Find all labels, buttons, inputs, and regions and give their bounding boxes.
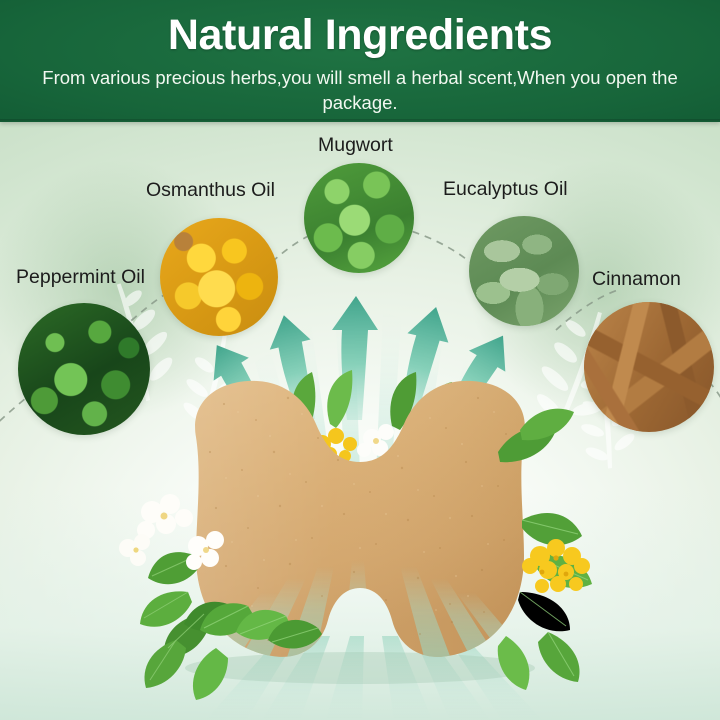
ingredient-label-mugwort: Mugwort: [318, 134, 393, 156]
mugwort-leaves-icon[interactable]: [304, 163, 414, 273]
page-subtitle: From various precious herbs,you will sme…: [36, 65, 684, 115]
ingredient-label-eucalyptus-oil: Eucalyptus Oil: [443, 178, 568, 200]
peppermint-leaves-icon[interactable]: [18, 303, 150, 435]
natural-ingredients-poster: Peppermint Oil Osmanthus Oil Mugwort Euc…: [0, 0, 720, 720]
osmanthus-flowers-icon[interactable]: [160, 218, 278, 336]
ingredient-label-osmanthus-oil: Osmanthus Oil: [146, 179, 275, 201]
header-banner: Natural Ingredients From various preciou…: [0, 0, 720, 122]
page-title: Natural Ingredients: [0, 9, 720, 61]
knee-patch-clickable-area[interactable]: [168, 385, 552, 685]
ingredient-label-cinnamon: Cinnamon: [592, 268, 681, 290]
eucalyptus-leaves-icon[interactable]: [469, 216, 579, 326]
ingredient-label-peppermint-oil: Peppermint Oil: [16, 266, 145, 288]
cinnamon-sticks-icon[interactable]: [584, 302, 714, 432]
